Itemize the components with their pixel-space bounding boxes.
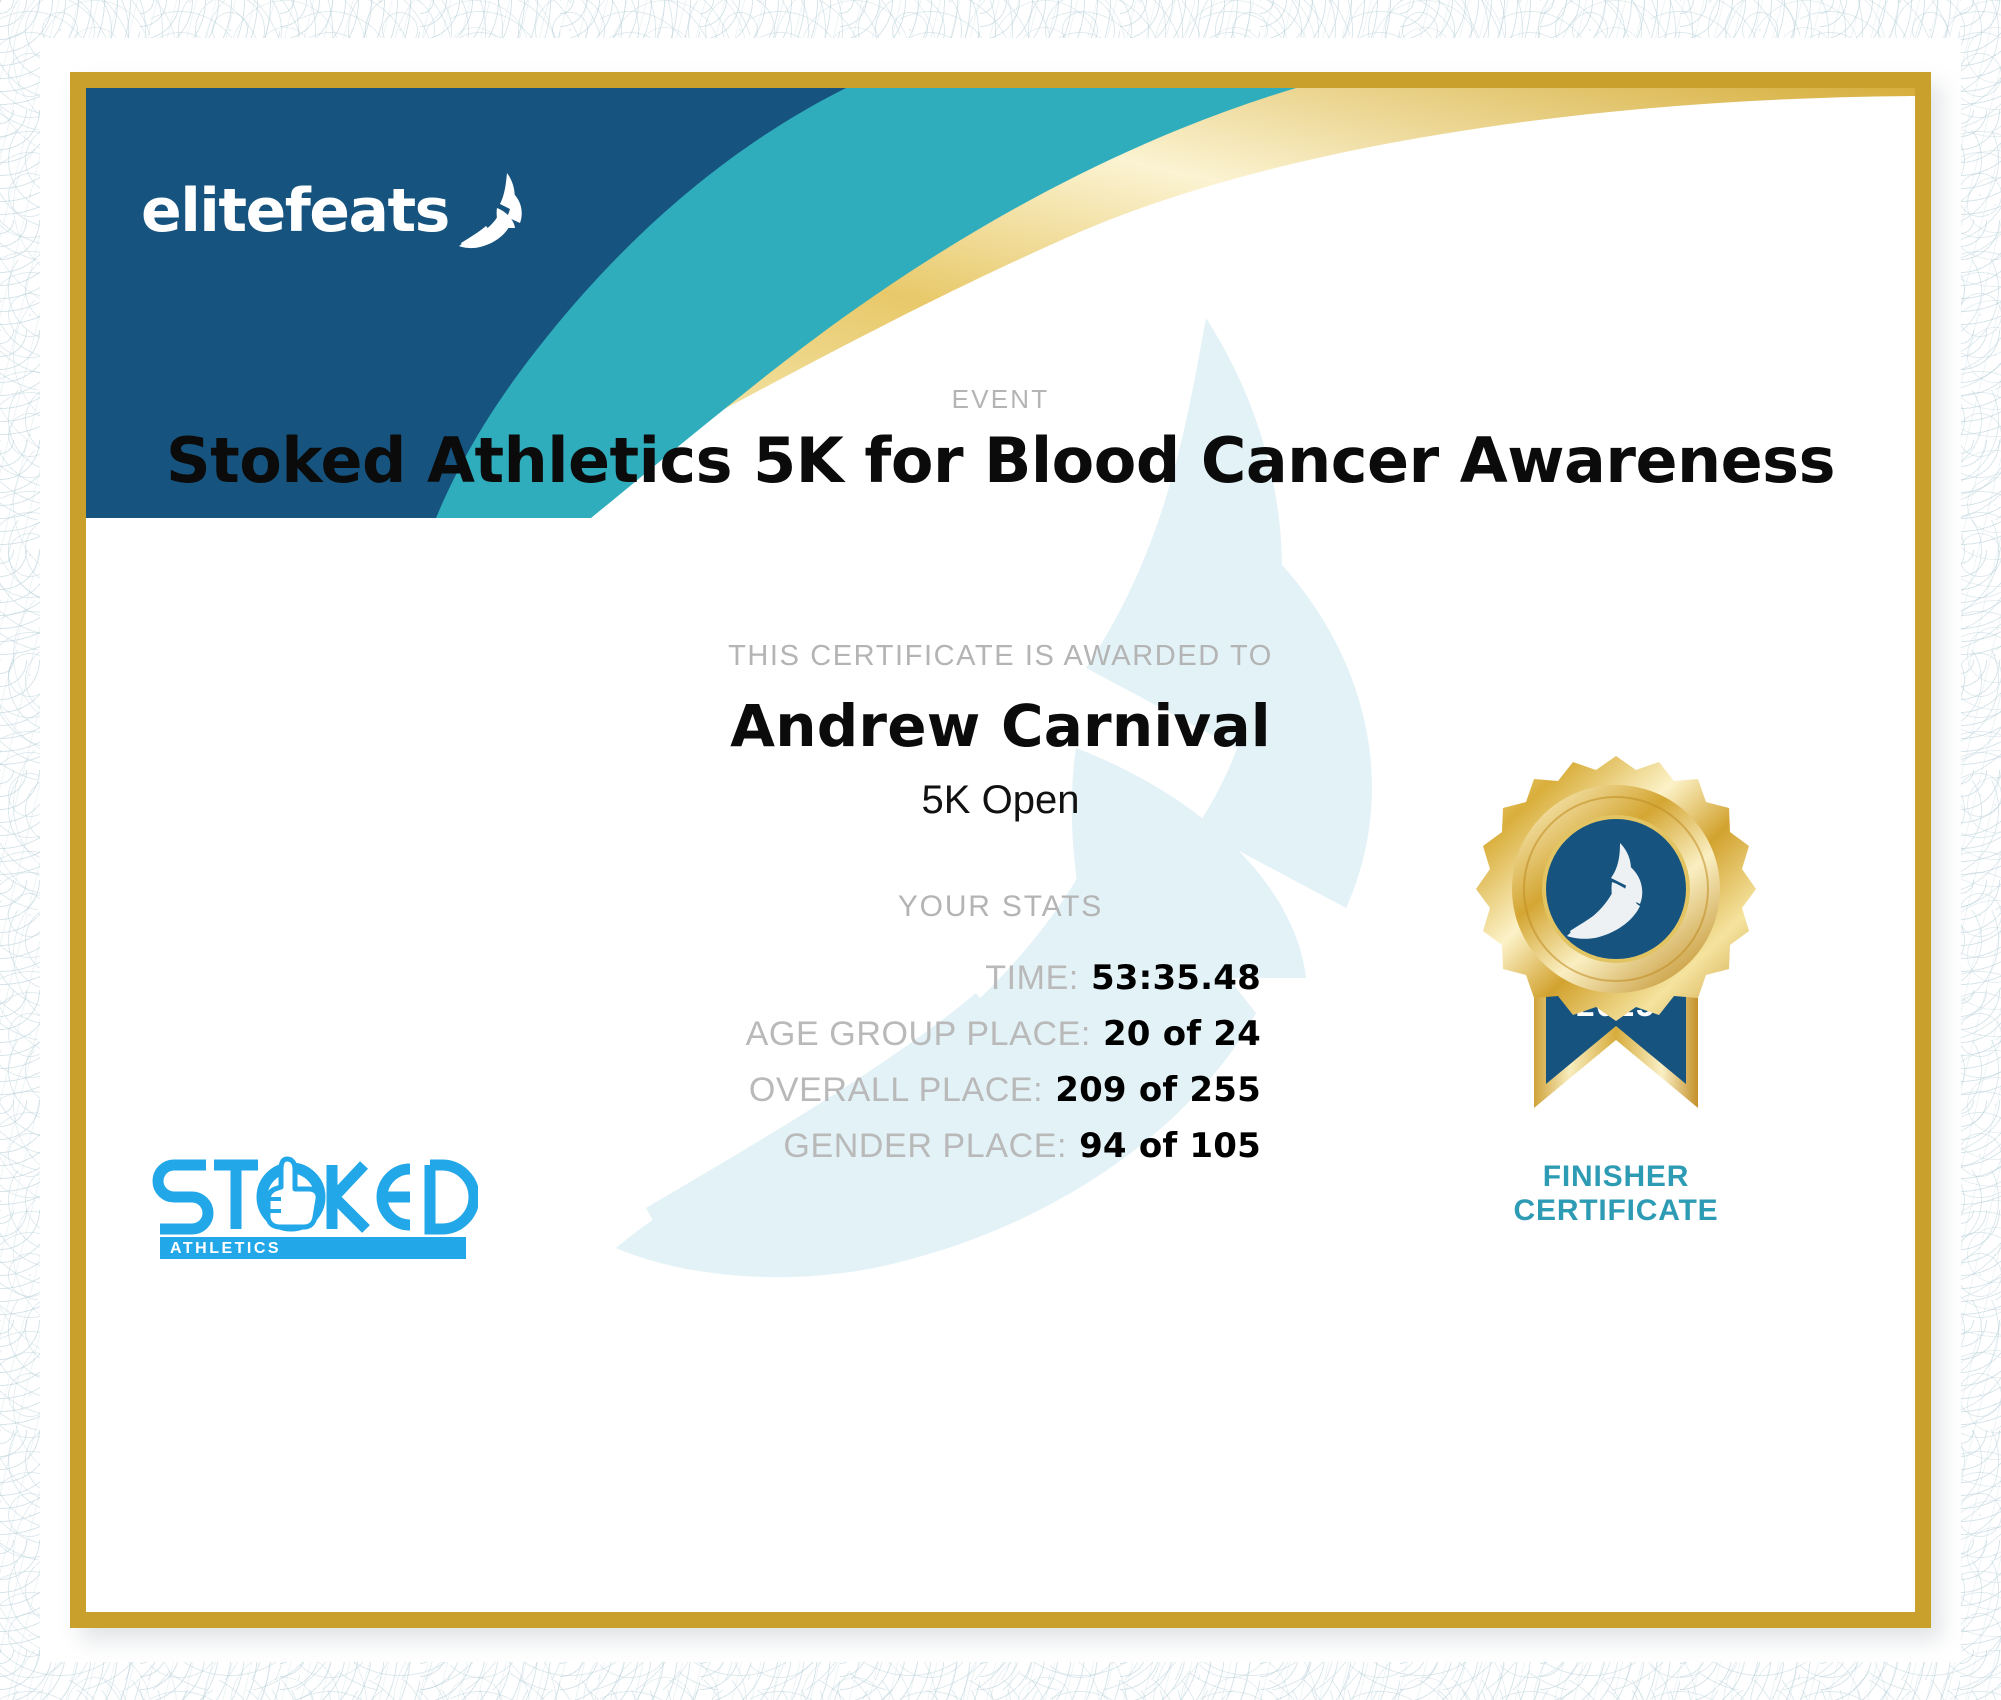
certificate-paper: elitefeats [86,88,1915,1612]
stat-label: OVERALL PLACE: [749,1071,1043,1110]
stat-label: TIME: [985,959,1079,998]
gold-border-frame: elitefeats [70,72,1931,1628]
badge-medal [1476,756,1756,1021]
badge-caption-line2: CERTIFICATE [1446,1194,1786,1228]
stat-label: AGE GROUP PLACE: [746,1015,1091,1054]
event-title: Stoked Athletics 5K for Blood Cancer Awa… [86,424,1915,497]
finisher-medal-badge: 2025 [1446,748,1786,1148]
event-label: EVENT [86,384,1915,415]
stats-list: TIME: 53:35.48 AGE GROUP PLACE: 20 of 24… [86,958,1261,1166]
stat-value: 20 of 24 [1103,1014,1261,1054]
elitefeats-logo: elitefeats [141,170,533,252]
stoked-athletics-logo: ATHLETICS [148,1143,478,1261]
sponsor-subtitle: ATHLETICS [170,1240,281,1257]
stat-row: OVERALL PLACE: 209 of 255 [749,1070,1261,1110]
stat-row: TIME: 53:35.48 [985,958,1261,998]
stat-row: GENDER PLACE: 94 of 105 [783,1126,1261,1166]
certificate-page: elitefeats [0,0,2001,1700]
winged-foot-icon [455,170,533,252]
badge-caption: FINISHER CERTIFICATE [1446,1160,1786,1227]
stat-row: AGE GROUP PLACE: 20 of 24 [746,1014,1261,1054]
awarded-to-label: THIS CERTIFICATE IS AWARDED TO [86,640,1915,673]
stat-label: GENDER PLACE: [783,1127,1067,1166]
elitefeats-wordmark: elitefeats [141,176,449,246]
badge-caption-line1: FINISHER [1446,1160,1786,1194]
stat-value: 94 of 105 [1079,1126,1261,1166]
stat-value: 53:35.48 [1091,958,1261,998]
stat-value: 209 of 255 [1055,1070,1261,1110]
